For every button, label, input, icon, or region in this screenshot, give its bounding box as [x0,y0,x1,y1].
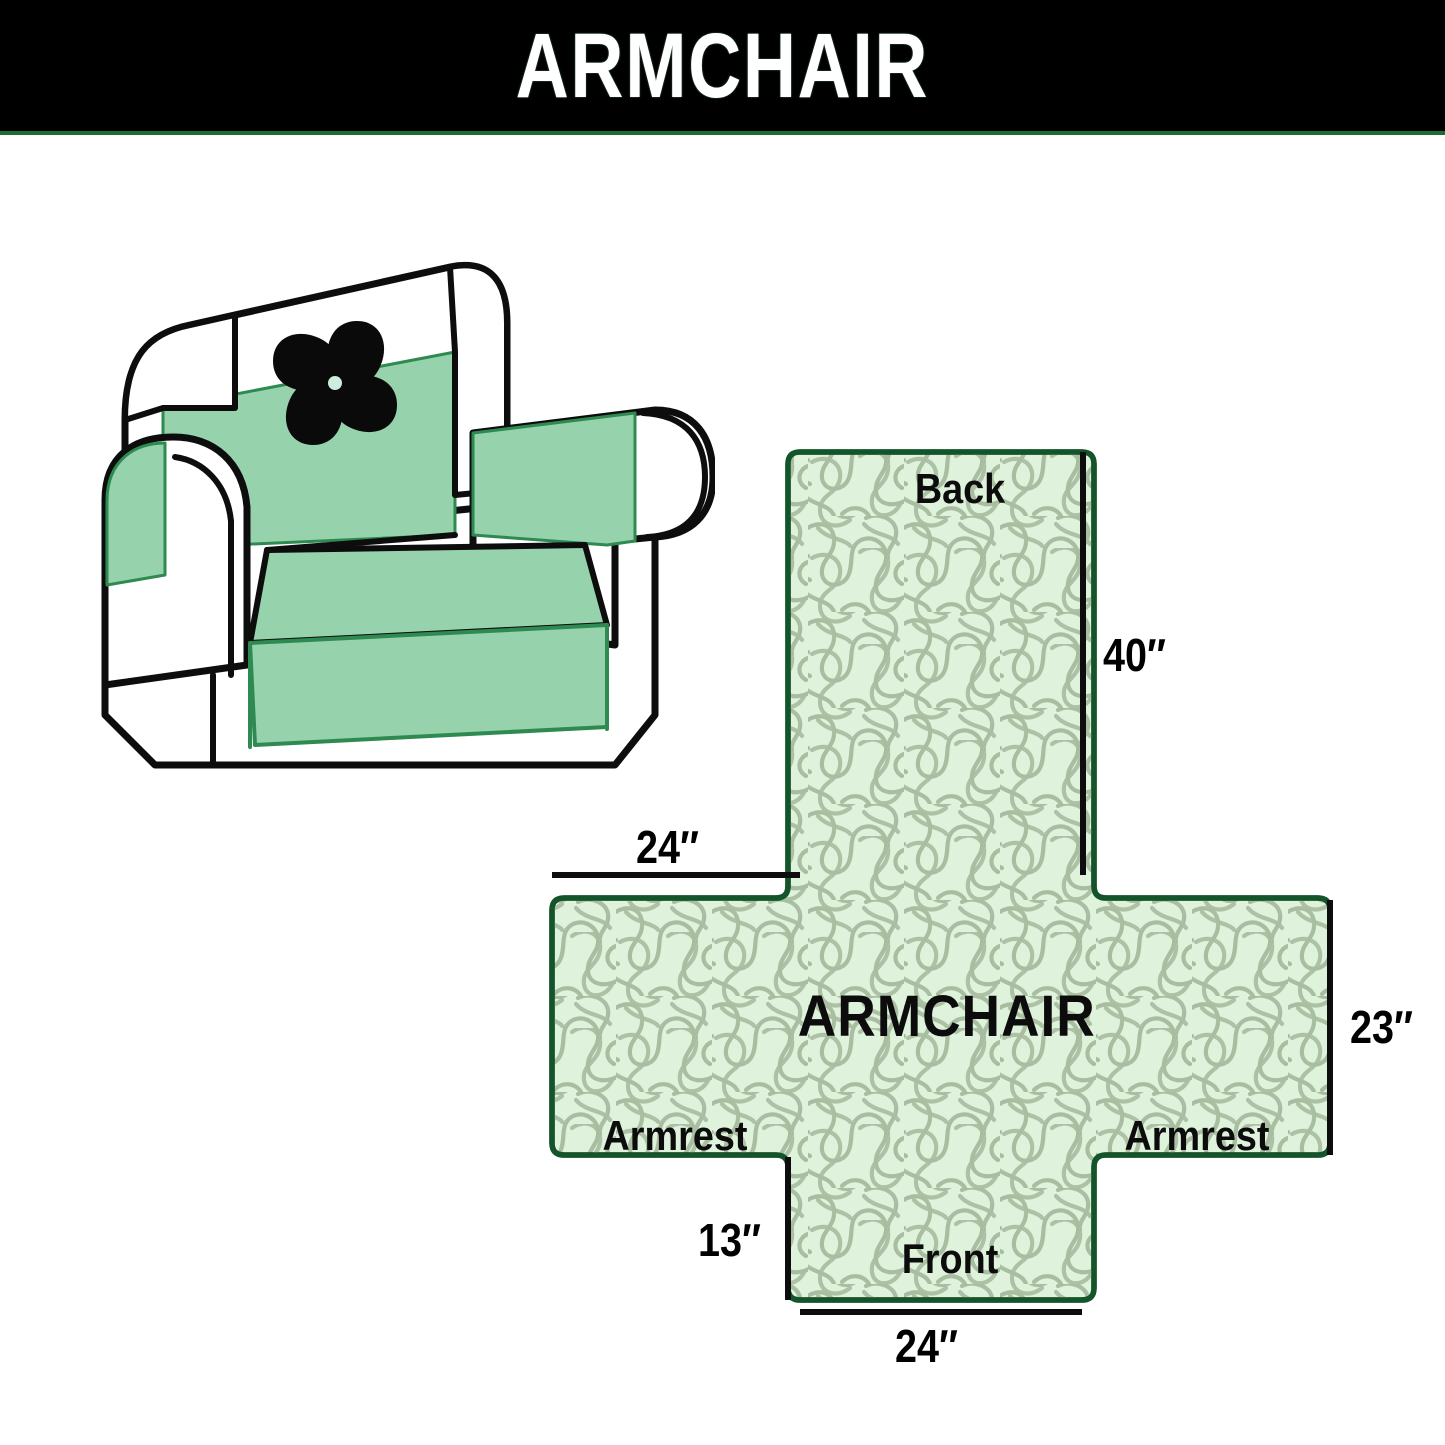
dimension-label-armrest-depth: 23″ [1350,1004,1413,1050]
dimension-label-front-width: 24″ [895,1323,958,1369]
slipcover-pattern-diagram: Back ARMCHAIR Armrest Armrest Front 40″ … [520,420,1445,1380]
dimension-label-back-height: 40″ [1103,632,1166,678]
panel-label-front: Front [883,1238,1018,1280]
header-accent-rule [0,131,1445,135]
panel-label-armrest-right: Armrest [1121,1115,1274,1157]
header-banner: ARMCHAIR [0,0,1445,131]
panel-label-back: Back [888,468,1032,510]
dimension-label-back-width: 24″ [636,824,699,870]
dimension-label-front-height: 13″ [698,1217,761,1263]
fan-icon [273,321,397,445]
panel-label-armrest-left: Armrest [599,1115,752,1157]
page-title: ARMCHAIR [516,20,929,112]
panel-label-center: ARMCHAIR [798,988,1092,1046]
